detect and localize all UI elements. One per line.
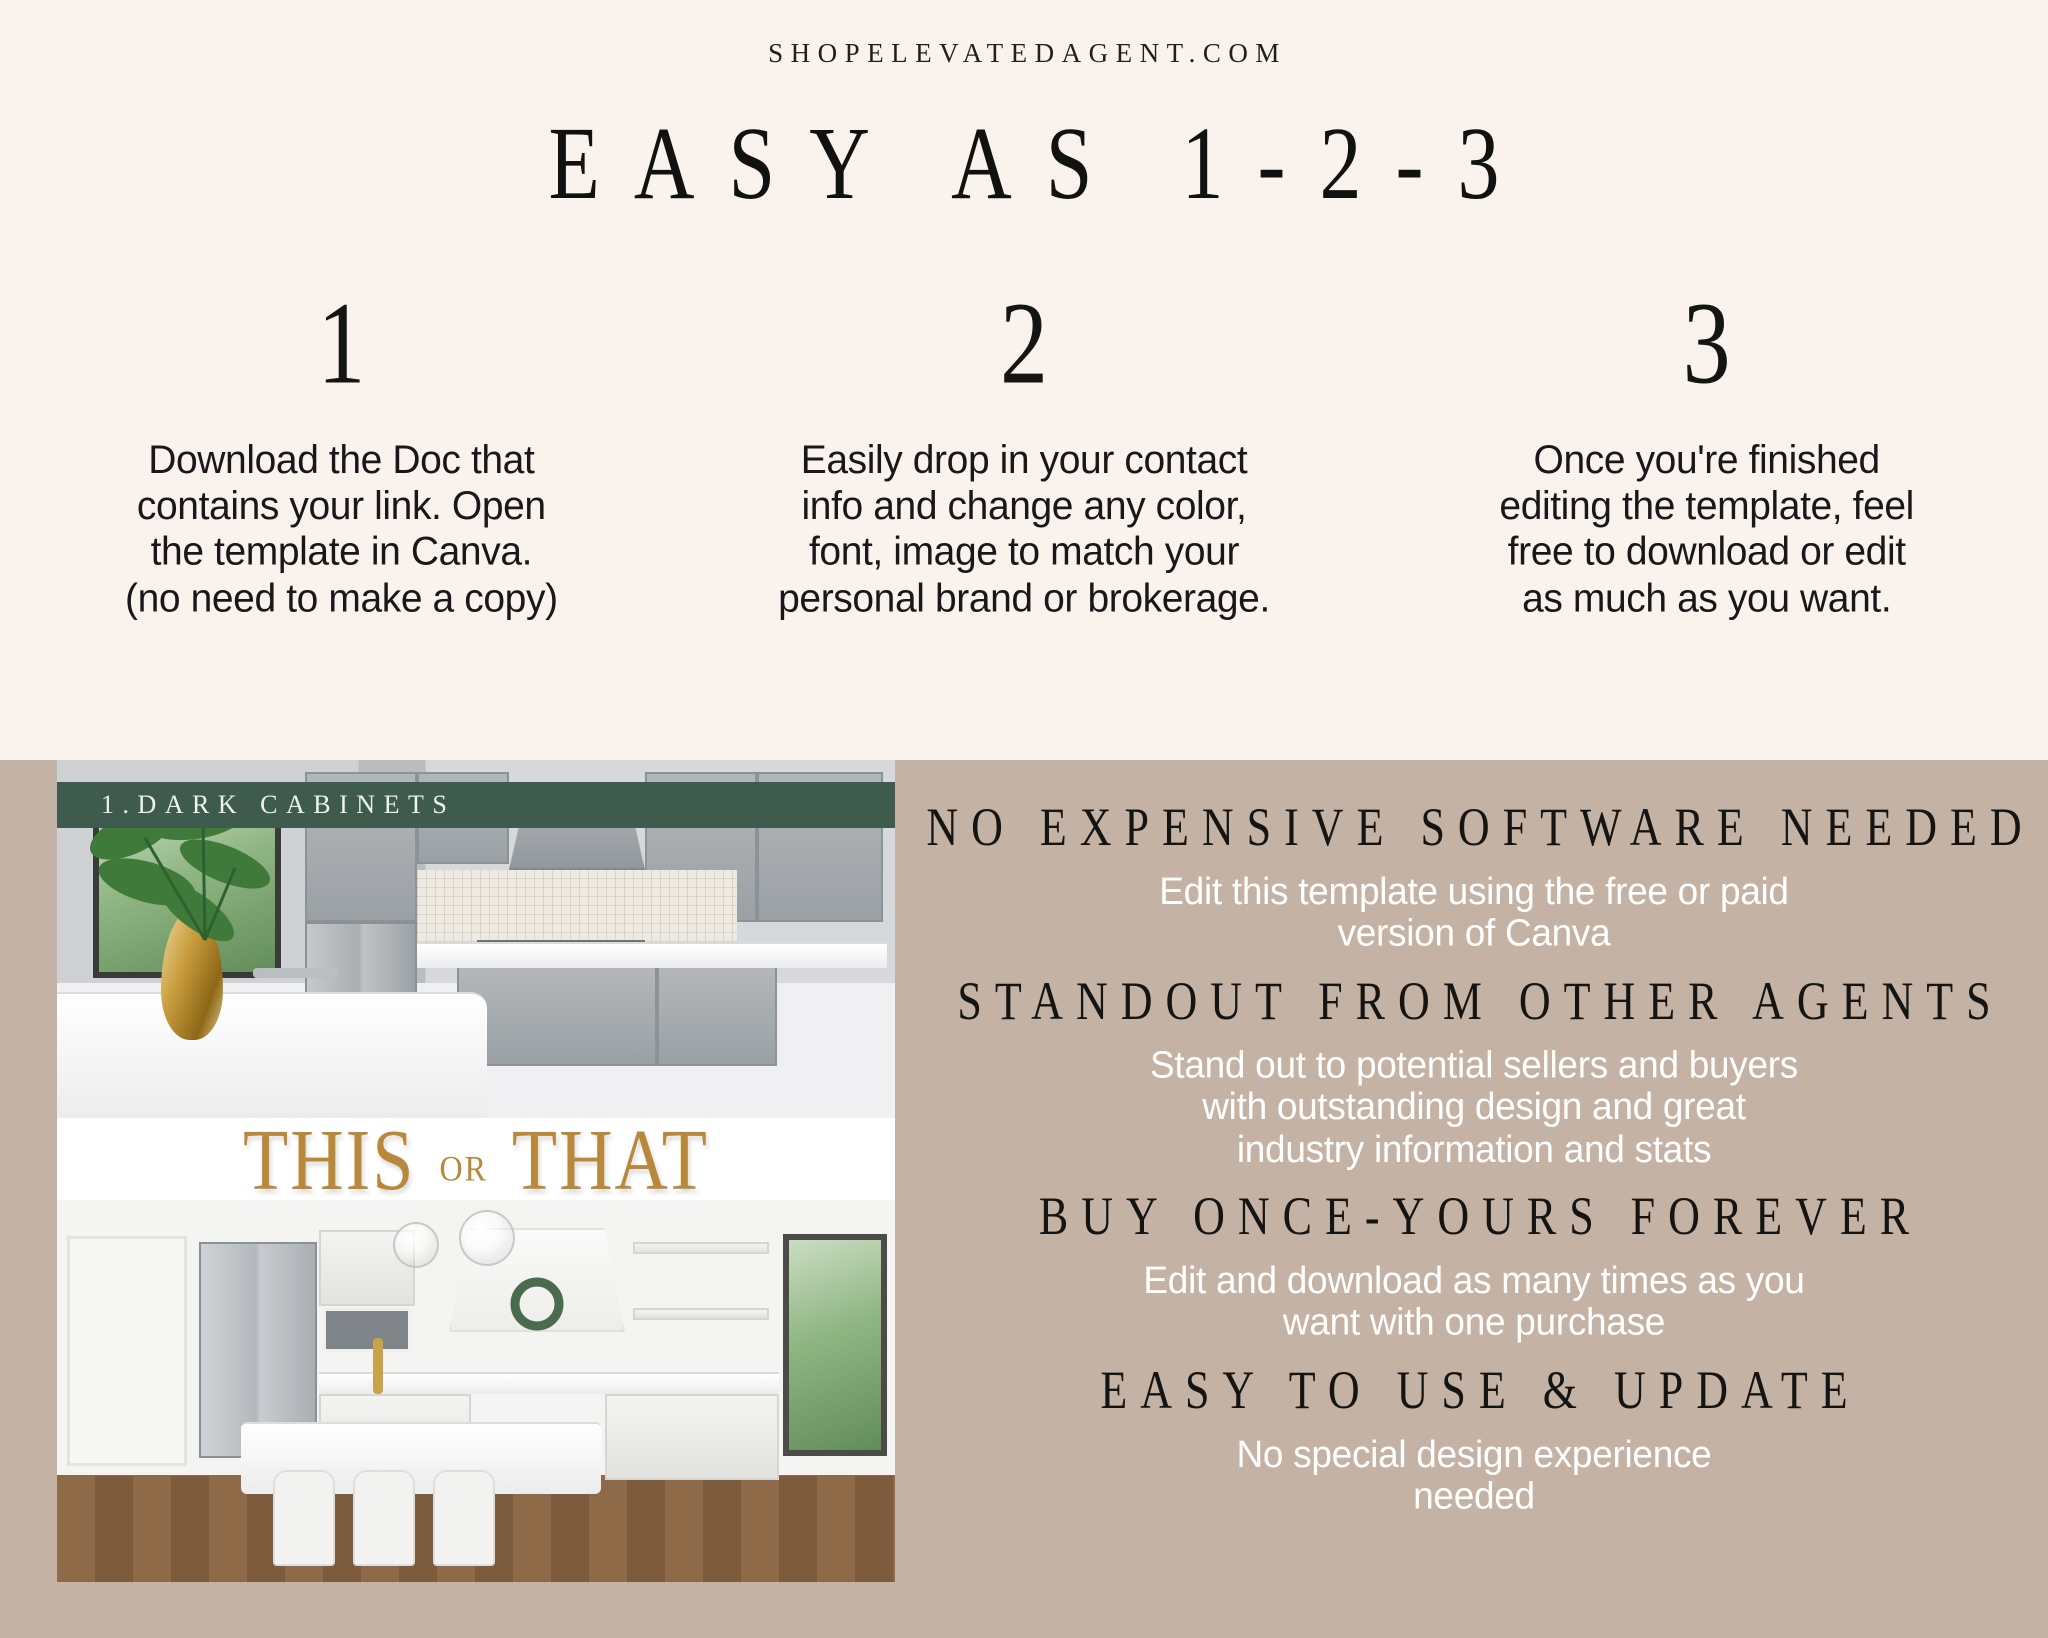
step-description-1: Download the Doc that contains your link… [125, 437, 558, 622]
feature-1-heading: NO EXPENSIVE SOFTWARE NEEDED [900, 796, 2048, 858]
features-section: 1.DARK CABINETS THIS OR THAT [0, 760, 2048, 1638]
this-word: THIS [243, 1111, 415, 1211]
feature-4-line-2: needed [900, 1476, 2048, 1518]
template-preview-collage: 1.DARK CABINETS THIS OR THAT [57, 760, 895, 1582]
feature-4-body: No special design experience needed [900, 1433, 2048, 1518]
kitchen-image-dark-cabinets: 1.DARK CABINETS [57, 760, 895, 1120]
faucet-shape [373, 1338, 383, 1394]
step-number-1: 1 [317, 285, 365, 402]
page-title: EASY AS 1-2-3 [0, 104, 2048, 224]
step-3-line-4: as much as you want. [1499, 576, 1914, 622]
feature-2-line-2: with outstanding design and great [900, 1086, 2048, 1128]
step-3-line-3: free to download or edit [1499, 529, 1914, 575]
step-3-line-2: editing the template, feel [1499, 483, 1914, 529]
faucet-shape [253, 968, 339, 978]
feature-3-heading: BUY ONCE-YOURS FOREVER [900, 1185, 2048, 1247]
site-url-text: SHOPELEVATEDAGENT.COM [0, 38, 2048, 69]
feature-2-line-3: industry information and stats [900, 1128, 2048, 1170]
microwave-shape [323, 1308, 411, 1352]
step-3-line-1: Once you're finished [1499, 437, 1914, 483]
step-1-line-1: Download the Doc that [125, 437, 558, 483]
open-shelf-shape [633, 1308, 769, 1320]
step-description-2: Easily drop in your contact info and cha… [778, 437, 1270, 622]
intro-section: SHOPELEVATEDAGENT.COM EASY AS 1-2-3 1 Do… [0, 0, 2048, 760]
wreath-icon [501, 1274, 573, 1334]
feature-item-2: STANDOUT FROM OTHER AGENTS Stand out to … [900, 970, 2048, 1169]
feature-3-line-2: want with one purchase [900, 1302, 2048, 1344]
bar-stool-shape [353, 1470, 415, 1566]
countertop-shape [319, 1372, 779, 1394]
steps-row: 1 Download the Doc that contains your li… [0, 285, 2048, 620]
banner-dark-label: 1.DARK CABINETS [93, 790, 455, 820]
feature-3-line-1: Edit and download as many times as you [900, 1259, 2048, 1301]
step-item-2: 2 Easily drop in your contact info and c… [683, 285, 1366, 620]
feature-1-line-2: version of Canva [900, 912, 2048, 954]
step-2-line-1: Easily drop in your contact [778, 437, 1270, 483]
feature-2-body: Stand out to potential sellers and buyer… [900, 1044, 2048, 1171]
step-2-line-2: info and change any color, [778, 483, 1270, 529]
or-word: OR [439, 1147, 487, 1188]
open-shelf-shape [633, 1242, 769, 1254]
cabinet-shape [657, 966, 777, 1066]
feature-2-line-1: Stand out to potential sellers and buyer… [900, 1044, 2048, 1086]
this-or-that-band: THIS OR THAT [57, 1118, 895, 1204]
bar-stool-shape [273, 1470, 335, 1566]
window-icon [783, 1234, 887, 1456]
pendant-light-icon [459, 1210, 515, 1266]
that-word: THAT [512, 1111, 709, 1211]
island-countertop-shape [57, 992, 487, 1120]
cabinet-shape [457, 966, 657, 1066]
step-2-line-4: personal brand or brokerage. [778, 576, 1270, 622]
feature-1-body: Edit this template using the free or pai… [900, 870, 2048, 955]
step-item-3: 3 Once you're finished editing the templ… [1365, 285, 2048, 620]
step-description-3: Once you're finished editing the templat… [1499, 437, 1914, 622]
step-number-2: 2 [1000, 285, 1048, 402]
feature-3-body: Edit and download as many times as you w… [900, 1259, 2048, 1344]
step-1-line-3: the template in Canva. [125, 529, 558, 575]
feature-list: NO EXPENSIVE SOFTWARE NEEDED Edit this t… [900, 796, 2048, 1533]
countertop-shape [417, 942, 887, 968]
feature-1-line-1: Edit this template using the free or pai… [900, 870, 2048, 912]
feature-item-3: BUY ONCE-YOURS FOREVER Edit and download… [900, 1185, 2048, 1343]
feature-4-line-1: No special design experience [900, 1433, 2048, 1475]
feature-2-heading: STANDOUT FROM OTHER AGENTS [900, 970, 2048, 1032]
cabinet-shape [605, 1394, 779, 1480]
kitchen-image-light-cabinets: 2.LIGHT CABINETS [57, 1200, 895, 1582]
feature-4-heading: EASY TO USE & UPDATE [900, 1359, 2048, 1421]
feature-item-1: NO EXPENSIVE SOFTWARE NEEDED Edit this t… [900, 796, 2048, 954]
step-item-1: 1 Download the Doc that contains your li… [0, 285, 683, 620]
step-1-line-4: (no need to make a copy) [125, 576, 558, 622]
backsplash-shape [417, 870, 737, 942]
bar-stool-shape [433, 1470, 495, 1566]
door-shape [67, 1236, 187, 1466]
feature-item-4: EASY TO USE & UPDATE No special design e… [900, 1359, 2048, 1517]
step-2-line-3: font, image to match your [778, 529, 1270, 575]
step-number-3: 3 [1683, 285, 1731, 402]
banner-dark-cabinets: 1.DARK CABINETS [57, 782, 895, 828]
step-1-line-2: contains your link. Open [125, 483, 558, 529]
pendant-light-icon [393, 1222, 439, 1268]
